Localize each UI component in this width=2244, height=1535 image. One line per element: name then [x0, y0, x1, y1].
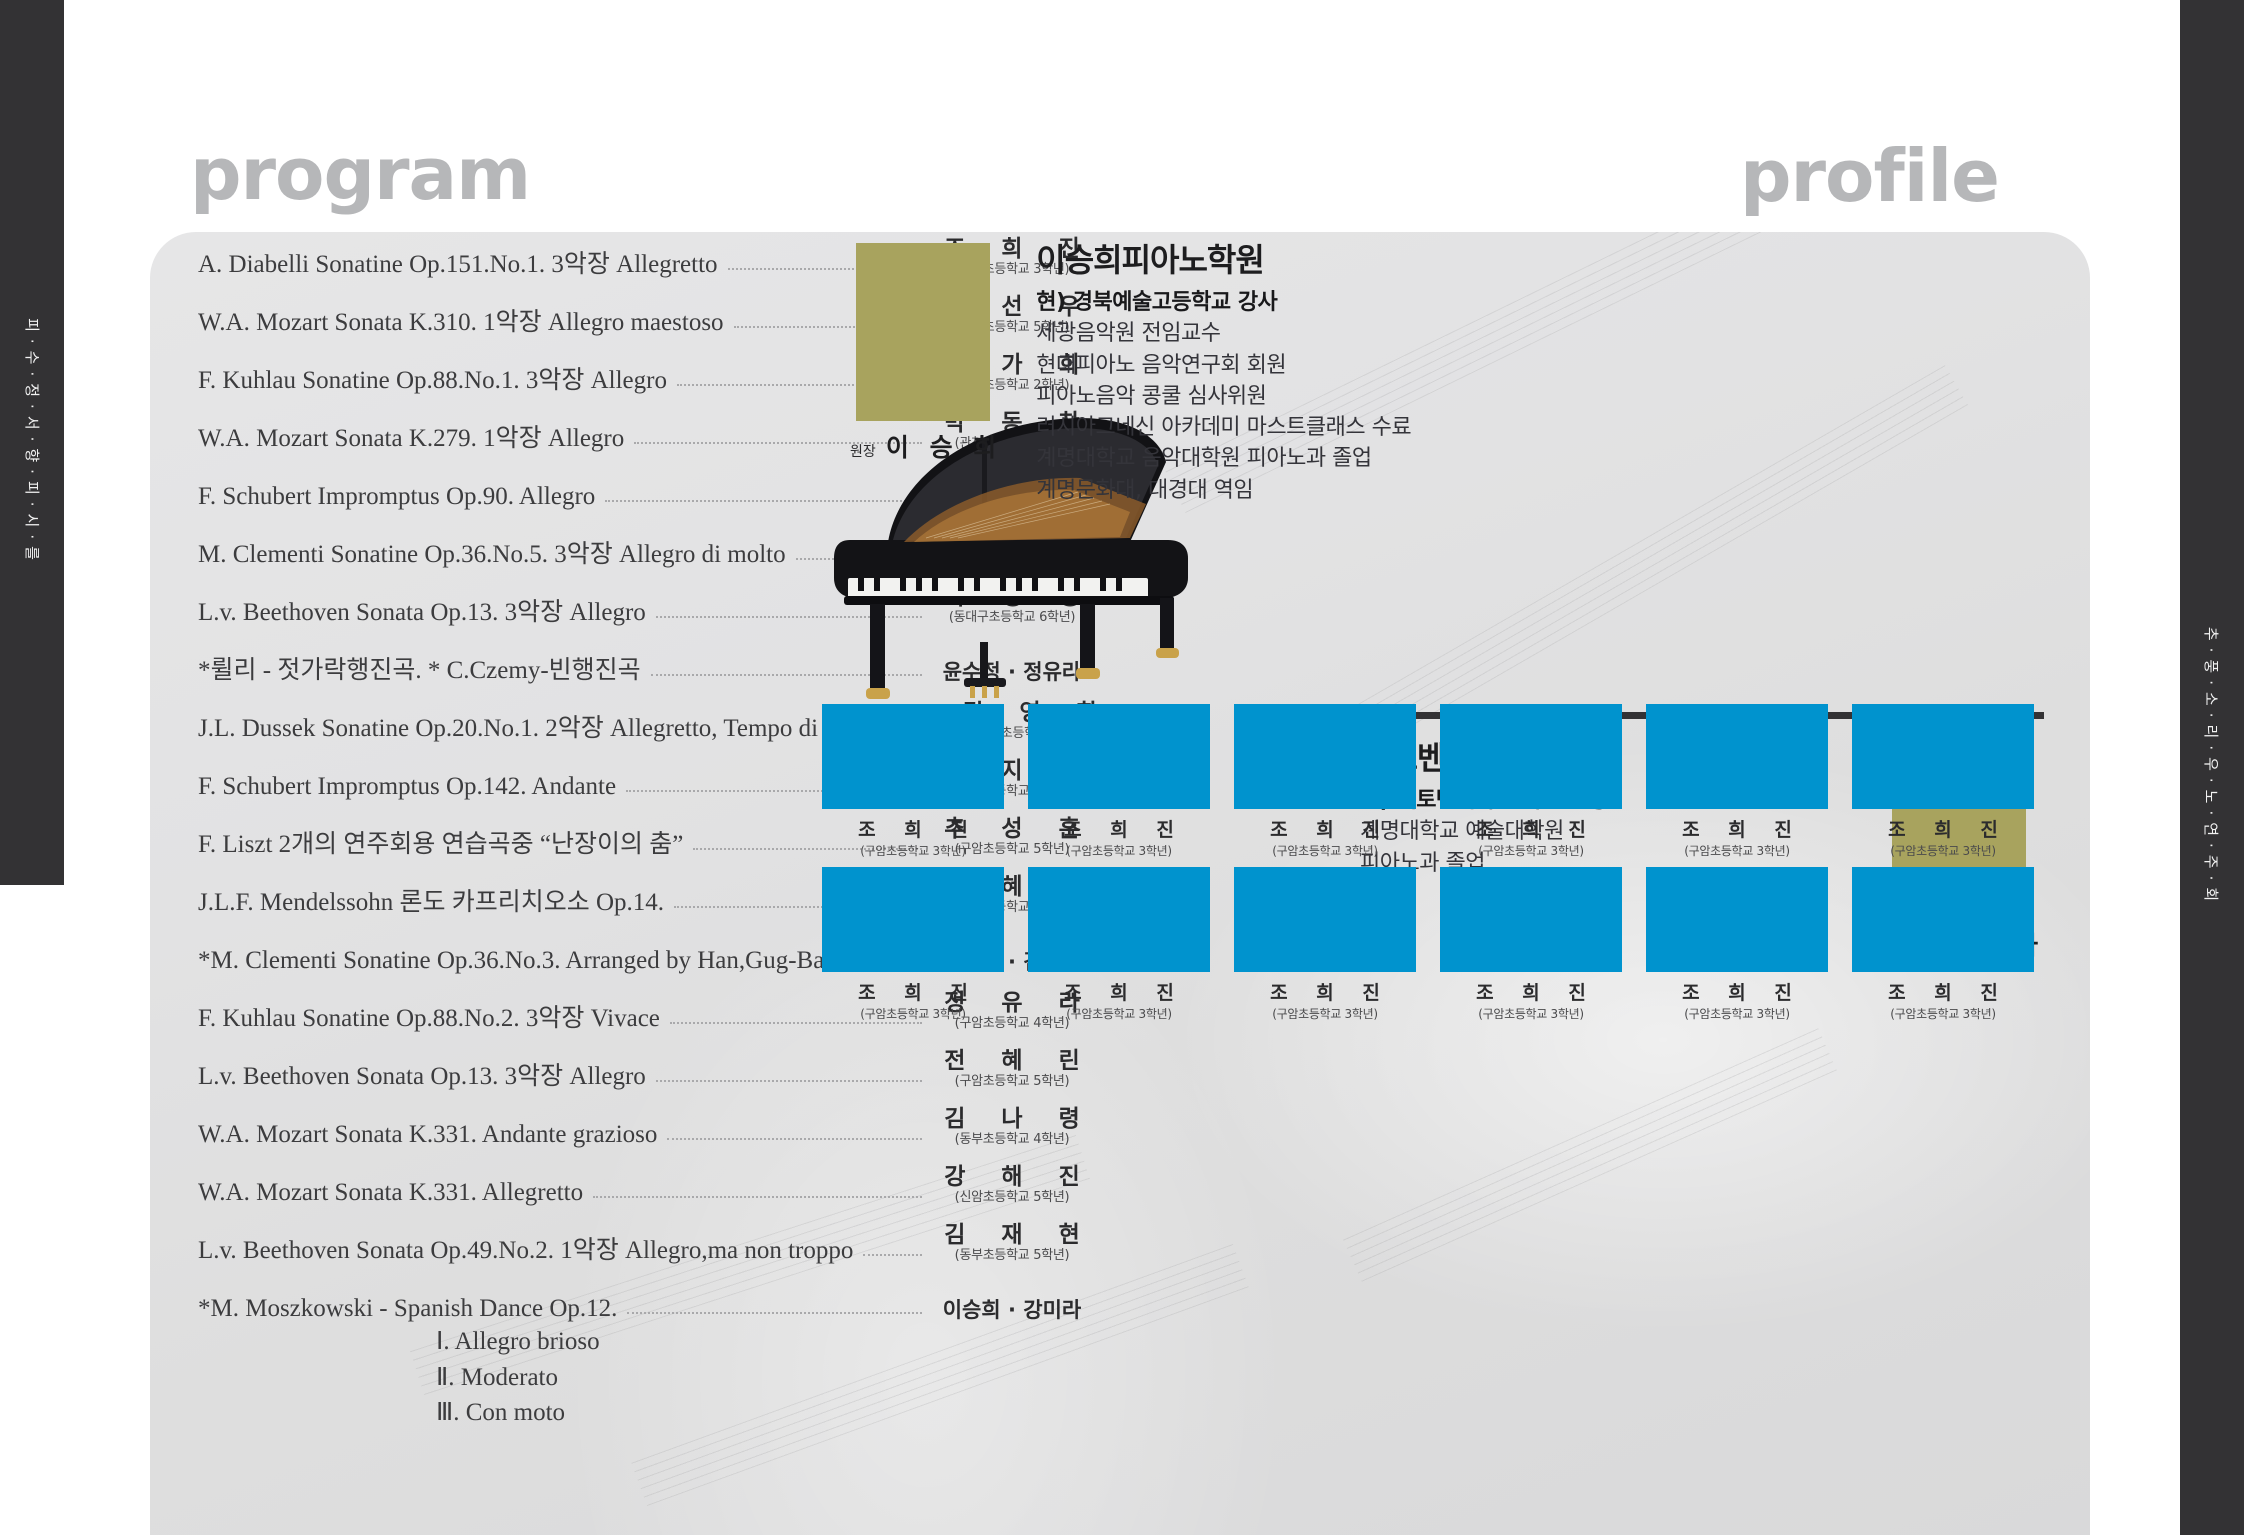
- photo-grid-cell: 조 희 진(구암초등학교 3학년): [1852, 704, 2034, 859]
- photo-grid-cell: 조 희 진(구암초등학교 3학년): [822, 867, 1004, 1022]
- performer-school: (구암초등학교 3학년): [1234, 1005, 1416, 1022]
- performer-school: (구암초등학교 3학년): [822, 1005, 1004, 1022]
- program-piece-title: *M. Moszkowski - Spanish Dance Op.12.: [198, 1295, 627, 1323]
- credential-line: 러시아그네신 아카데미 마스트클래스 수료: [1036, 412, 1411, 443]
- leader-dots: [627, 1312, 922, 1314]
- program-row: *M. Moszkowski - Spanish Dance Op.12.이승희…: [198, 1264, 1096, 1322]
- program-piece-title: F. Schubert Impromptus Op.142. Andante: [198, 773, 626, 801]
- performer-name: 조 희 진: [1852, 815, 2034, 842]
- program-piece-title: *륄리 - 젓가락행진곡. * C.Czemy-빈행진곡: [198, 657, 651, 685]
- photo-grid-cell: 조 희 진(구암초등학교 3학년): [1646, 867, 1828, 1022]
- leader-dots: [593, 1196, 922, 1198]
- credential-line: 현) 경북예술고등학교 강사: [1036, 287, 1411, 318]
- performer-name: 강 해 진: [928, 1164, 1096, 1190]
- director-label-1: 원장 이 승 희: [850, 428, 1002, 464]
- left-sidebar-vertical-text: 피·수·정·서·향·피·시·를: [22, 318, 43, 567]
- program-piece-title: F. Kuhlau Sonatine Op.88.No.1. 3악장 Alleg…: [198, 367, 677, 395]
- profile-heading: profile: [1740, 140, 1999, 212]
- profile-text-1: 이승희피아노학원 현) 경북예술고등학교 강사세광음악원 전임교수현대피아노 음…: [1036, 243, 1411, 506]
- performer-name: 조 희 진: [1028, 815, 1210, 842]
- program-piece-title: W.A. Mozart Sonata K.331. Andante grazio…: [198, 1121, 667, 1149]
- performer-photo-placeholder: [1234, 704, 1416, 809]
- program-heading: program: [190, 138, 530, 210]
- performer-school: (구암초등학교 3학년): [1440, 1005, 1622, 1022]
- program-row: L.v. Beethoven Sonata Op.13. 3악장 Allegro…: [198, 1032, 1096, 1090]
- performer-photo-placeholder: [822, 867, 1004, 972]
- photo-caption: 조 희 진(구암초등학교 3학년): [1852, 815, 2034, 859]
- portrait-placeholder: [856, 243, 990, 421]
- leader-dots: [863, 1254, 922, 1256]
- credential-line: 계명대학교 음악대학원 피아노과 졸업: [1036, 443, 1411, 474]
- performer-school: (구암초등학교 3학년): [1646, 1005, 1828, 1022]
- photo-grid-cell: 조 희 진(구암초등학교 3학년): [1440, 704, 1622, 859]
- performer-school: (동부초등학교 5학년): [928, 1248, 1096, 1264]
- performer-name: 조 희 진: [1646, 815, 1828, 842]
- photo-caption: 조 희 진(구암초등학교 3학년): [822, 978, 1004, 1022]
- photo-grid-cell: 조 희 진(구암초등학교 3학년): [1234, 867, 1416, 1022]
- right-sidebar-strip: 추·풍·소·리·우·노·연·주·회: [2180, 0, 2244, 1535]
- performer-photo-placeholder: [1440, 704, 1622, 809]
- program-performer: 강 해 진(신암초등학교 5학년): [928, 1164, 1096, 1206]
- leader-dots: [670, 1022, 922, 1024]
- program-performer: 김 재 현(동부초등학교 5학년): [928, 1222, 1096, 1264]
- program-performer: 이승희 · 강미라: [928, 1298, 1096, 1322]
- photo-caption: 조 희 진(구암초등학교 3학년): [1234, 978, 1416, 1022]
- credential-line: 피아노음악 콩쿨 심사위원: [1036, 381, 1411, 412]
- program-piece-title: J.L.F. Mendelssohn 론도 카프리치오소 Op.14.: [198, 889, 674, 917]
- movement-item: Ⅰ. Allegro brioso: [436, 1324, 1096, 1360]
- performer-school: (구암초등학교 3학년): [1440, 842, 1622, 859]
- photo-grid-cell: 조 희 진(구암초등학교 3학년): [822, 704, 1004, 859]
- photo-caption: 조 희 진(구암초등학교 3학년): [1028, 978, 1210, 1022]
- performer-school: (구암초등학교 3학년): [1028, 842, 1210, 859]
- credential-line: 계명문화대, 대경대 역임: [1036, 475, 1411, 506]
- program-row: W.A. Mozart Sonata K.331. Andante grazio…: [198, 1090, 1096, 1148]
- photo-grid-cell: 조 희 진(구암초등학교 3학년): [1440, 867, 1622, 1022]
- performer-name: 이승희 · 강미라: [928, 1298, 1096, 1322]
- performer-photo-grid: 조 희 진(구암초등학교 3학년)조 희 진(구암초등학교 3학년)조 희 진(…: [822, 704, 2034, 1022]
- staff-lines-decor: [1343, 1028, 1837, 1282]
- performer-photo-placeholder: [1852, 867, 2034, 972]
- performer-school: (신암초등학교 5학년): [928, 1190, 1096, 1206]
- movement-list: Ⅰ. Allegro briosoⅡ. ModeratoⅢ. Con moto: [436, 1324, 1096, 1431]
- performer-name: 조 희 진: [1440, 815, 1622, 842]
- performer-name: 조 희 진: [1234, 978, 1416, 1005]
- program-piece-title: A. Diabelli Sonatine Op.151.No.1. 3악장 Al…: [198, 251, 728, 279]
- profile-block-1: 원장 이 승 희 이승희피아노학원 현) 경북예술고등학교 강사세광음악원 전임…: [850, 232, 2040, 506]
- performer-school: (구암초등학교 3학년): [822, 842, 1004, 859]
- performer-school: (동부초등학교 4학년): [928, 1132, 1096, 1148]
- program-piece-title: F. Liszt 2개의 연주회용 연습곡중 “난장이의 춤”: [198, 831, 693, 859]
- photo-caption: 조 희 진(구암초등학교 3학년): [1646, 815, 1828, 859]
- program-performer: 김 나 령(동부초등학교 4학년): [928, 1106, 1096, 1148]
- performer-name: 조 희 진: [822, 815, 1004, 842]
- right-sidebar-vertical-text: 추·풍·소·리·우·노·연·주·회: [2202, 627, 2223, 908]
- photo-caption: 조 희 진(구암초등학교 3학년): [1440, 978, 1622, 1022]
- photo-caption: 조 희 진(구암초등학교 3학년): [1440, 815, 1622, 859]
- performer-name: 조 희 진: [1852, 978, 2034, 1005]
- performer-name: 조 희 진: [822, 978, 1004, 1005]
- academy-credentials-1: 현) 경북예술고등학교 강사세광음악원 전임교수현대피아노 음악연구회 회원피아…: [1036, 287, 1411, 506]
- performer-name: 조 희 진: [1440, 978, 1622, 1005]
- leader-dots: [656, 1080, 922, 1082]
- program-row: W.A. Mozart Sonata K.331. Allegretto강 해 …: [198, 1148, 1096, 1206]
- performer-school: (구암초등학교 5학년): [928, 1074, 1096, 1090]
- performer-school: (구암초등학교 3학년): [1028, 1005, 1210, 1022]
- photo-caption: 조 희 진(구암초등학교 3학년): [822, 815, 1004, 859]
- performer-photo-placeholder: [1234, 867, 1416, 972]
- performer-name: 김 나 령: [928, 1106, 1096, 1132]
- performer-school: (구암초등학교 3학년): [1234, 842, 1416, 859]
- photo-caption: 조 희 진(구암초등학교 3학년): [1646, 978, 1828, 1022]
- leader-dots: [667, 1138, 922, 1140]
- movement-item: Ⅱ. Moderato: [436, 1360, 1096, 1396]
- program-piece-title: W.A. Mozart Sonata K.331. Allegretto: [198, 1179, 593, 1207]
- performer-name: 전 혜 린: [928, 1048, 1096, 1074]
- photo-grid-cell: 조 희 진(구암초등학교 3학년): [1646, 704, 1828, 859]
- program-piece-title: L.v. Beethoven Sonata Op.49.No.2. 1악장 Al…: [198, 1237, 863, 1265]
- program-piece-title: M. Clementi Sonatine Op.36.No.5. 3악장 All…: [198, 541, 796, 569]
- program-piece-title: W.A. Mozart Sonata K.310. 1악장 Allegro ma…: [198, 309, 734, 337]
- performer-photo-placeholder: [822, 704, 1004, 809]
- performer-name: 조 희 진: [1028, 978, 1210, 1005]
- performer-school: (구암초등학교 3학년): [1646, 842, 1828, 859]
- photo-grid-cell: 조 희 진(구암초등학교 3학년): [1028, 867, 1210, 1022]
- program-row: L.v. Beethoven Sonata Op.49.No.2. 1악장 Al…: [198, 1206, 1096, 1264]
- photo-grid-cell: 조 희 진(구암초등학교 3학년): [1234, 704, 1416, 859]
- photo-caption: 조 희 진(구암초등학교 3학년): [1852, 978, 2034, 1022]
- movement-item: Ⅲ. Con moto: [436, 1395, 1096, 1431]
- photo-caption: 조 희 진(구암초등학교 3학년): [1234, 815, 1416, 859]
- credential-line: 현대피아노 음악연구회 회원: [1036, 350, 1411, 381]
- director-role: 원장: [850, 444, 876, 460]
- photo-caption: 조 희 진(구암초등학교 3학년): [1028, 815, 1210, 859]
- performer-photo-placeholder: [1440, 867, 1622, 972]
- left-sidebar-strip: 피·수·정·서·향·피·시·를: [0, 0, 64, 885]
- program-performer: 전 혜 린(구암초등학교 5학년): [928, 1048, 1096, 1090]
- photo-grid-cell: 조 희 진(구암초등학교 3학년): [1852, 867, 2034, 1022]
- content-panel: A. Diabelli Sonatine Op.151.No.1. 3악장 Al…: [150, 232, 2090, 1535]
- program-piece-title: J.L. Dussek Sonatine Op.20.No.1. 2악장 All…: [198, 715, 926, 743]
- profile-portrait-1: 원장 이 승 희: [850, 243, 1002, 506]
- program-piece-title: F. Kuhlau Sonatine Op.88.No.2. 3악장 Vivac…: [198, 1005, 670, 1033]
- performer-photo-placeholder: [1646, 867, 1828, 972]
- performer-name: 김 재 현: [928, 1222, 1096, 1248]
- program-piece-title: W.A. Mozart Sonata K.279. 1악장 Allegro: [198, 425, 634, 453]
- program-piece-title: F. Schubert Impromptus Op.90. Allegro: [198, 483, 605, 511]
- credential-line: 세광음악원 전임교수: [1036, 318, 1411, 349]
- performer-photo-placeholder: [1852, 704, 2034, 809]
- performer-school: (구암초등학교 3학년): [1852, 1005, 2034, 1022]
- program-piece-title: *M. Clementi Sonatine Op.36.No.3. Arrang…: [198, 947, 845, 975]
- performer-photo-placeholder: [1028, 867, 1210, 972]
- program-piece-title: L.v. Beethoven Sonata Op.13. 3악장 Allegro: [198, 599, 656, 627]
- photo-grid-cell: 조 희 진(구암초등학교 3학년): [1028, 704, 1210, 859]
- director-name: 이 승 희: [886, 433, 1002, 462]
- performer-name: 조 희 진: [1646, 978, 1828, 1005]
- performer-photo-placeholder: [1646, 704, 1828, 809]
- performer-photo-placeholder: [1028, 704, 1210, 809]
- program-piece-title: L.v. Beethoven Sonata Op.13. 3악장 Allegro: [198, 1063, 656, 1091]
- academy-name-1: 이승희피아노학원: [1036, 243, 1411, 278]
- performer-name: 조 희 진: [1234, 815, 1416, 842]
- performer-school: (구암초등학교 3학년): [1852, 842, 2034, 859]
